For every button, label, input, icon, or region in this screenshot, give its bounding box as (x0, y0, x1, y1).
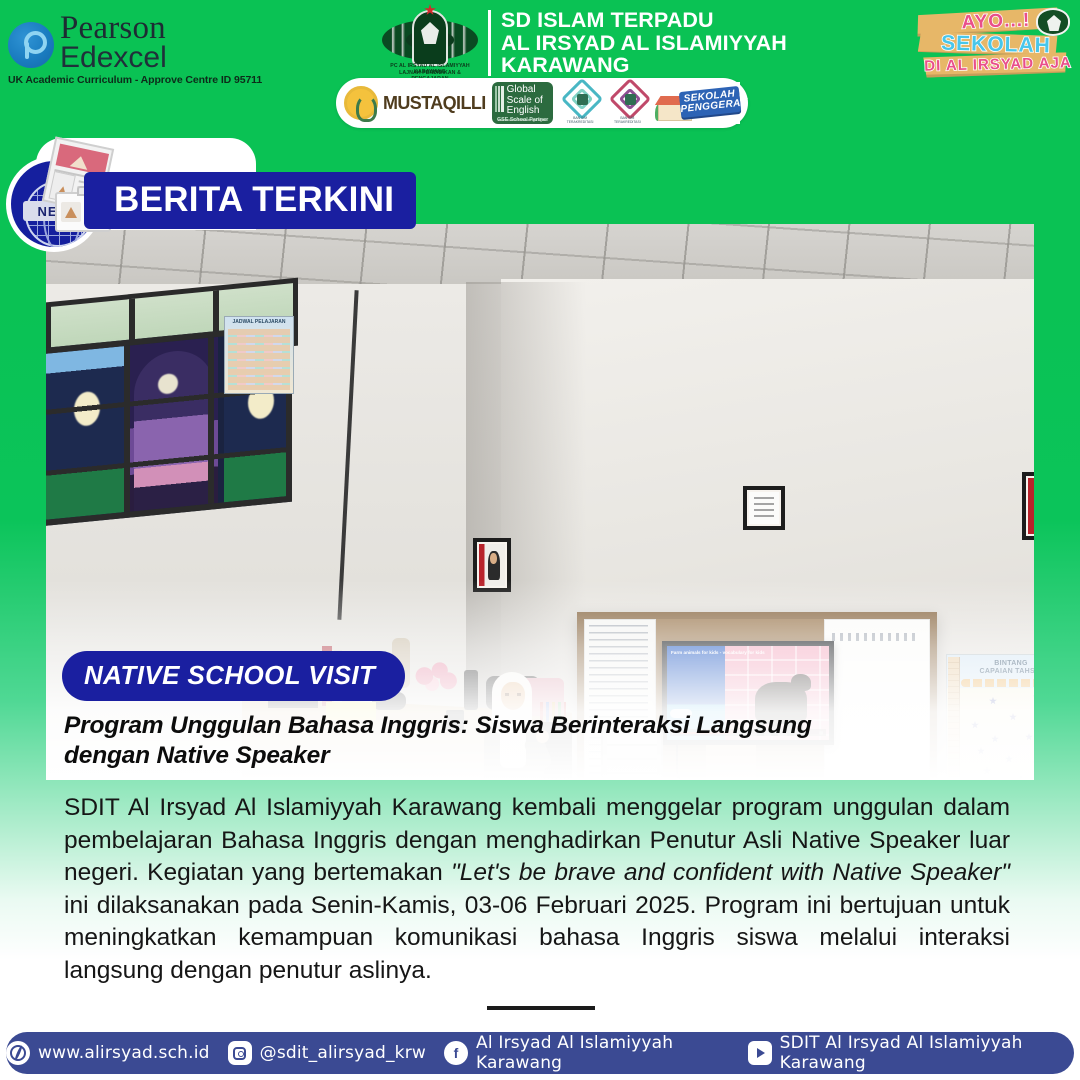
social-footer-bar: www.alirsyad.sch.id @sdit_alirsyad_krw f… (6, 1032, 1074, 1074)
instagram-icon (228, 1041, 252, 1065)
footer-facebook[interactable]: f Al Irsyad Al Islamiyyah Karawang (444, 1033, 730, 1073)
gse-line1: Global (496, 85, 550, 96)
headline-line1: Program Unggulan Bahasa Inggris: Siswa B… (64, 712, 812, 739)
header-divider (488, 10, 491, 76)
poster-header: Pearson Edexcel UK Academic Curriculum -… (0, 0, 1080, 132)
youtube-label: SDIT Al Irsyad Al Islamiyyah Karawang (780, 1033, 1074, 1073)
poster-canvas: Pearson Edexcel UK Academic Curriculum -… (0, 0, 1080, 1080)
facebook-icon: f (444, 1041, 468, 1065)
ayo-emblem-icon (1036, 8, 1070, 36)
mustaqilli-logo: MUSTAQILLI (344, 86, 486, 120)
body-part-2: ini dilaksanakan pada Senin-Kamis, 03-06… (64, 892, 1010, 984)
global-scale-of-english-logo: Global Scale of English Your tool for me… (492, 82, 554, 124)
pearson-edexcel-logo-block: Pearson Edexcel UK Academic Curriculum -… (8, 8, 348, 86)
wall-certificate (743, 486, 785, 530)
pearson-subtitle: UK Academic Curriculum - Approve Centre … (8, 74, 262, 86)
website-icon (6, 1041, 30, 1065)
schedule-title: JADWAL PELAJARAN (225, 319, 293, 325)
school-name-line3: KARAWANG (501, 54, 787, 77)
category-badge: NATIVE SCHOOL VISIT (62, 651, 405, 701)
website-label: www.alirsyad.sch.id (38, 1043, 210, 1063)
accreditation-2-label: BAN S/M TERAKREDITASI (607, 116, 648, 124)
gse-footer-label: GSE School Partner (492, 117, 554, 123)
school-identity-block: PC AL IRSYAD AL ISLAMIYYAH KARAWANG LAJN… (382, 6, 787, 80)
accreditation-logo-1: BAN S/M TERAKREDITASI (559, 82, 600, 124)
school-emblem-icon: PC AL IRSYAD AL ISLAMIYYAH KARAWANG LAJN… (382, 6, 478, 80)
accreditation-1-label: BAN S/M TERAKREDITASI (559, 116, 600, 124)
gse-line3: English (496, 106, 550, 117)
partner-logos-strip: MUSTAQILLI Global Scale of English Your … (336, 78, 748, 128)
class-schedule-poster: JADWAL PELAJARAN (224, 316, 294, 394)
instagram-label: @sdit_alirsyad_krw (260, 1043, 426, 1063)
pearson-wordmark-line2: Edexcel (60, 41, 167, 75)
school-name-line1: SD ISLAM TERPADU (501, 9, 787, 32)
youtube-icon (748, 1041, 772, 1065)
footer-youtube[interactable]: SDIT Al Irsyad Al Islamiyyah Karawang (748, 1033, 1074, 1073)
footer-website[interactable]: www.alirsyad.sch.id (6, 1041, 210, 1065)
headline-line2: dengan Native Speaker (64, 742, 329, 769)
school-name-line2: AL IRSYAD AL ISLAMIYYAH (501, 32, 787, 55)
footer-instagram[interactable]: @sdit_alirsyad_krw (228, 1041, 426, 1065)
sekolah-penggerak-logo: SEKOLAH PENGGERAK (654, 82, 740, 124)
pearson-p-icon (8, 22, 54, 68)
article-divider (487, 1006, 595, 1010)
ayo-sekolah-banner: AYO...! SEKOLAH DI AL IRSYAD AJA (902, 6, 1074, 78)
accreditation-logo-2: BAN S/M TERAKREDITASI (607, 82, 648, 124)
school-name: SD ISLAM TERPADU AL IRSYAD AL ISLAMIYYAH… (501, 9, 787, 77)
mustaqilli-label: MUSTAQILLI (383, 93, 486, 114)
facebook-label: Al Irsyad Al Islamiyyah Karawang (476, 1033, 730, 1073)
article-body: SDIT Al Irsyad Al Islamiyyah Karawang ke… (64, 792, 1010, 987)
wall-portrait-2 (1022, 472, 1034, 540)
berita-terkini-title: BERITA TERKINI (84, 172, 416, 229)
mustaqilli-coin-icon (344, 86, 378, 120)
article-headline: Program Unggulan Bahasa Inggris: Siswa B… (64, 711, 1004, 771)
gse-bars-icon (495, 86, 504, 112)
body-quote: "Let's be brave and confident with Nativ… (451, 859, 1010, 886)
